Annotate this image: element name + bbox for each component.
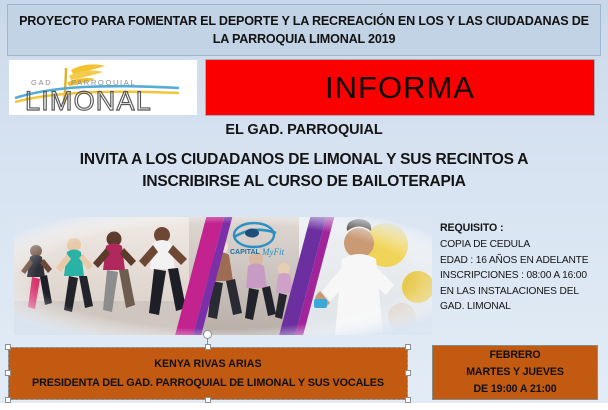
schedule-days: MARTES Y JUEVES	[466, 364, 564, 381]
requisitos-heading: REQUISITO :	[440, 222, 606, 234]
informa-banner[interactable]: INFORMA	[205, 59, 595, 116]
resize-handle-w[interactable]	[5, 370, 11, 376]
invitation-line-2: INVITA A LOS CIUDADANOS DE LIMONAL Y SUS…	[14, 149, 594, 171]
president-name: KENYA RIVAS ARIAS	[154, 358, 261, 370]
slide-canvas: PROYECTO PARA FOMENTAR EL DEPORTE Y LA R…	[0, 0, 608, 410]
invitation-textbox[interactable]: EL GAD. PARROQUIAL INVITA A LOS CIUDADAN…	[14, 122, 594, 194]
requisito-item: GAD. LIMONAL	[440, 299, 606, 315]
page-title: PROYECTO PARA FOMENTAR EL DEPORTE Y LA R…	[8, 12, 600, 49]
project-title-box[interactable]: PROYECTO PARA FOMENTAR EL DEPORTE Y LA R…	[7, 4, 601, 56]
resize-handle-ne[interactable]	[405, 344, 411, 350]
invitation-line-3: INSCRIBIRSE AL CURSO DE BAILOTERAPIA	[14, 171, 594, 193]
schedule-box[interactable]: FEBRERO MARTES Y JUEVES DE 19:00 A 21:00	[432, 345, 598, 400]
canvas-bottom-edge	[0, 403, 608, 410]
requisito-item: EN LAS INSTALACIONES DEL	[440, 284, 606, 300]
resize-handle-nw[interactable]	[5, 344, 11, 350]
rotation-handle[interactable]	[203, 330, 212, 339]
signature-box[interactable]: KENYA RIVAS ARIAS PRESIDENTA DEL GAD. PA…	[8, 347, 408, 400]
informa-label: INFORMA	[325, 70, 475, 106]
resize-handle-n[interactable]	[205, 344, 211, 350]
requisito-item: EDAD : 16 AÑOS EN ADELANTE	[440, 253, 606, 269]
schedule-month: FEBRERO	[489, 347, 540, 364]
requisitos-textbox[interactable]: REQUISITO : COPIA DE CEDULA EDAD : 16 AÑ…	[440, 222, 606, 315]
gad-limonal-logo[interactable]: GAD PARROQUIAL LIMONAL GAD PARROQUIAL LI…	[8, 59, 198, 116]
collage-graphic: CAPITAL MyFit	[14, 217, 432, 335]
svg-text:LIMONAL: LIMONAL	[25, 86, 152, 116]
schedule-time: DE 19:00 A 21:00	[474, 381, 557, 398]
requisito-item: INSCRIPCIONES : 08:00 A 16:00	[440, 268, 606, 284]
invitation-line-1: EL GAD. PARROQUIAL	[14, 122, 594, 138]
resize-handle-e[interactable]	[405, 370, 411, 376]
logo-graphic: GAD PARROQUIAL LIMONAL	[9, 60, 198, 116]
president-role: PRESIDENTA DEL GAD. PARROQUIAL DE LIMONA…	[32, 377, 384, 389]
fitness-photo-collage[interactable]: CAPITAL MyFit CAPITAL MYFIT	[14, 217, 432, 335]
requisito-item: COPIA DE CEDULA	[440, 237, 606, 253]
